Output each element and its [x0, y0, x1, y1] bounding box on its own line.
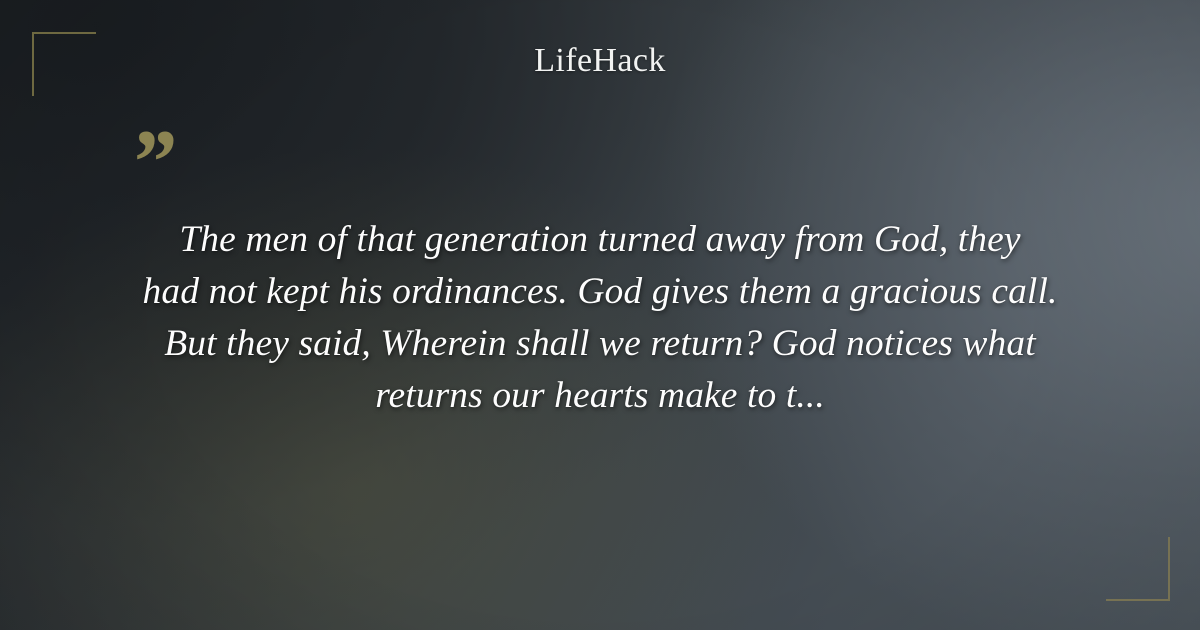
quote-card: LifeHack ” The men of that generation tu… — [0, 0, 1200, 630]
corner-bracket-bottom-right-icon — [1106, 537, 1170, 601]
quotation-mark-icon: ” — [129, 116, 175, 208]
quote-line: The men of that generation turned away f… — [100, 214, 1100, 266]
quote-line: But they said, Wherein shall we return? … — [100, 318, 1100, 370]
quote-line: returns our hearts make to t... — [100, 370, 1100, 422]
quote-text: The men of that generation turned away f… — [100, 214, 1100, 422]
quote-line: had not kept his ordinances. God gives t… — [100, 266, 1100, 318]
brand-logo: LifeHack — [0, 40, 1200, 82]
